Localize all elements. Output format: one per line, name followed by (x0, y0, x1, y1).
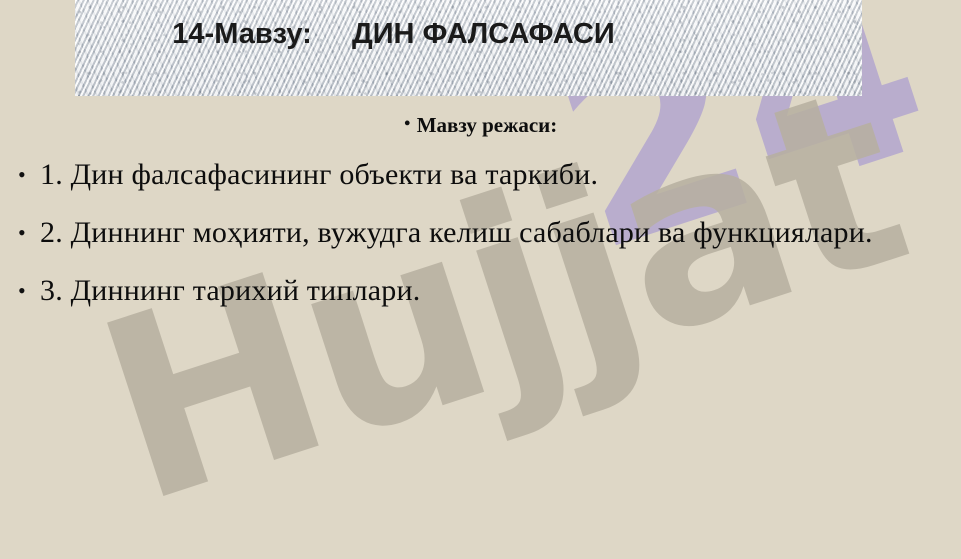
plan-subtitle: Мавзу режаси: (417, 113, 558, 137)
slide-content-panel: •Мавзу режаси: • 1. Дин фалсафасининг об… (0, 96, 961, 540)
bullet-icon: • (18, 214, 40, 252)
plan-item-text: 1. Дин фалсафасининг объекти ва таркиби. (40, 156, 918, 194)
plan-list: • 1. Дин фалсафасининг объекти ва таркиб… (18, 156, 918, 330)
page-title: 14-Мавзу: ДИН ФАЛСАФАСИ (0, 18, 787, 51)
slide-root: { "slide": { "background_color": "#ded7c… (0, 0, 961, 540)
bullet-icon: • (404, 114, 411, 134)
list-item: • 2. Диннинг моҳияти, вужудга келиш саба… (18, 214, 918, 252)
list-item: • 3. Диннинг тарихий типлари. (18, 272, 918, 310)
plan-item-text: 3. Диннинг тарихий типлари. (40, 272, 918, 310)
list-item: • 1. Дин фалсафасининг объекти ва таркиб… (18, 156, 918, 194)
plan-subtitle-row: •Мавзу режаси: (0, 113, 961, 138)
bullet-icon: • (18, 272, 40, 310)
plan-item-text: 2. Диннинг моҳияти, вужудга келиш сабабл… (40, 214, 918, 252)
bullet-icon: • (18, 156, 40, 194)
